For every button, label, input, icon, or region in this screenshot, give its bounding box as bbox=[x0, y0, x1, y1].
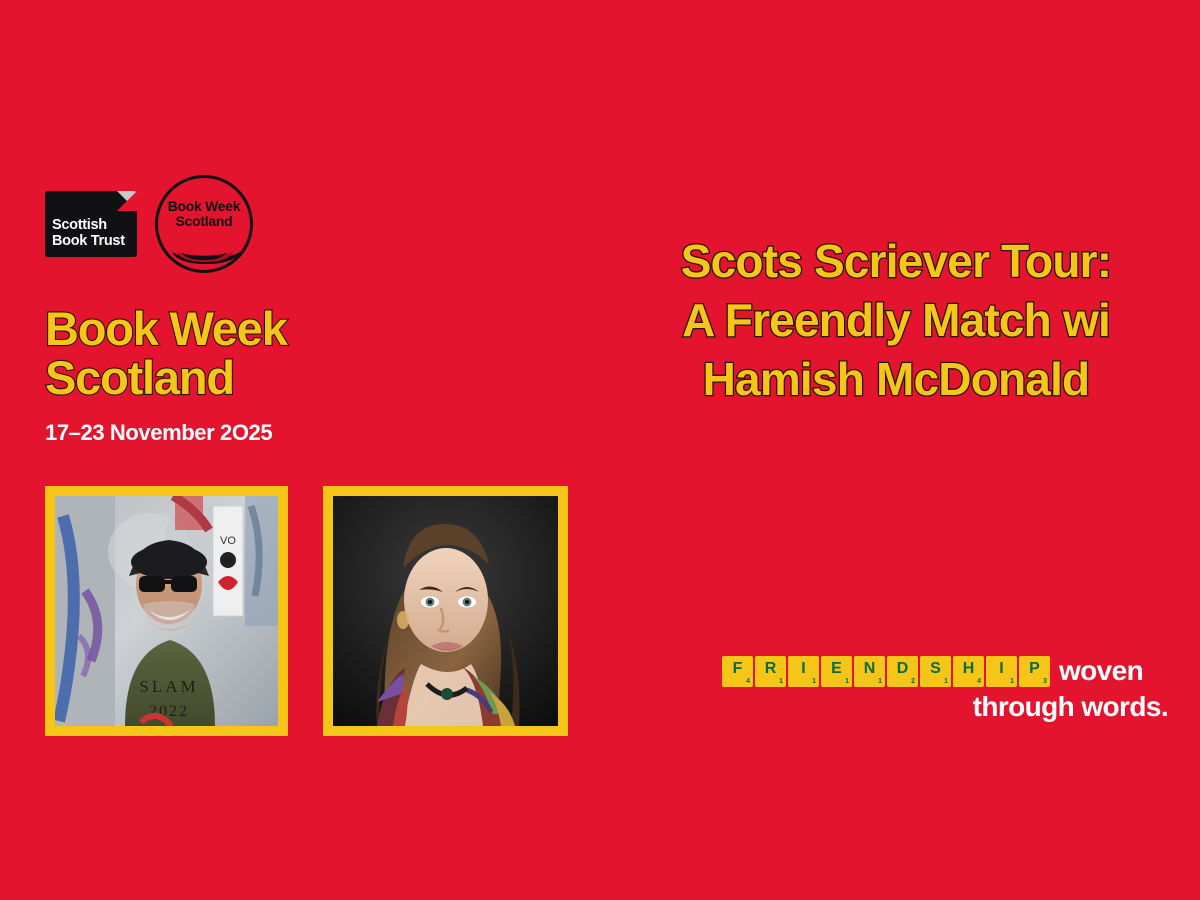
scottish-book-trust-logo-text: Scottish Book Trust bbox=[52, 217, 125, 249]
scrabble-tile-letter: H bbox=[953, 661, 984, 677]
smile-swoosh-inner-icon bbox=[182, 242, 226, 260]
author-photo-hamish-image: VO SLAM 2022 bbox=[55, 496, 278, 726]
scrabble-tile-s: S1 bbox=[920, 656, 951, 687]
scrabble-tile-f: F4 bbox=[722, 656, 753, 687]
scrabble-tile-points: 1 bbox=[812, 678, 816, 685]
event-title-line-3: Hamish McDonald bbox=[610, 350, 1182, 409]
scrabble-tile-points: 2 bbox=[911, 678, 915, 685]
sbt-logo-line-2: Book Trust bbox=[52, 233, 125, 249]
svg-text:VO: VO bbox=[220, 535, 236, 547]
scrabble-tile-d: D2 bbox=[887, 656, 918, 687]
bws-badge-line-2: Scotland bbox=[158, 214, 250, 229]
scrabble-tile-h: H4 bbox=[953, 656, 984, 687]
festival-heading: Book Week Scotland bbox=[45, 305, 287, 403]
page-fold-shadow-icon bbox=[117, 191, 137, 211]
author-photo-hamish: VO SLAM 2022 bbox=[45, 486, 288, 736]
festival-dates: 17–23 November 2O25 bbox=[45, 420, 272, 446]
sbt-logo-line-1: Scottish bbox=[52, 217, 125, 233]
scrabble-tile-letter: I bbox=[986, 661, 1017, 677]
scrabble-tile-points: 1 bbox=[779, 678, 783, 685]
scottish-book-trust-logo: Scottish Book Trust bbox=[45, 191, 137, 257]
event-title-line-2: A Freendly Match wi bbox=[610, 291, 1182, 350]
scrabble-tile-points: 4 bbox=[746, 678, 750, 685]
friendship-scrabble-tiles: F4R1I1E1N1D2S1H4I1P3 bbox=[722, 656, 1050, 687]
svg-text:SLAM: SLAM bbox=[139, 677, 198, 696]
event-title-line-1: Scots Scriever Tour: bbox=[610, 232, 1182, 291]
scrabble-tile-i: I1 bbox=[788, 656, 819, 687]
festival-heading-line-1: Book Week bbox=[45, 305, 287, 354]
poster-canvas: Scottish Book Trust Book Week Scotland B… bbox=[0, 0, 1200, 900]
book-week-scotland-badge: Book Week Scotland bbox=[155, 175, 253, 273]
tagline-row-2: through words. bbox=[722, 691, 1172, 723]
scrabble-tile-letter: P bbox=[1019, 661, 1050, 677]
event-title: Scots Scriever Tour: A Freendly Match wi… bbox=[610, 232, 1182, 409]
scrabble-tile-letter: E bbox=[821, 661, 852, 677]
tagline-word-woven: woven bbox=[1059, 655, 1143, 687]
tagline-block: F4R1I1E1N1D2S1H4I1P3 woven through words… bbox=[722, 655, 1172, 723]
scrabble-tile-letter: N bbox=[854, 661, 885, 677]
scrabble-tile-points: 1 bbox=[1010, 678, 1014, 685]
scrabble-tile-letter: S bbox=[920, 661, 951, 677]
scrabble-tile-letter: I bbox=[788, 661, 819, 677]
author-photo-woman bbox=[323, 486, 568, 736]
scrabble-tile-points: 1 bbox=[944, 678, 948, 685]
scrabble-tile-n: N1 bbox=[854, 656, 885, 687]
scrabble-tile-p: P3 bbox=[1019, 656, 1050, 687]
bws-badge-line-1: Book Week bbox=[158, 199, 250, 214]
logo-row: Scottish Book Trust Book Week Scotland bbox=[45, 175, 253, 273]
scrabble-tile-points: 1 bbox=[845, 678, 849, 685]
scrabble-tile-i: I1 bbox=[986, 656, 1017, 687]
author-photo-woman-image bbox=[333, 496, 558, 726]
festival-heading-line-2: Scotland bbox=[45, 354, 287, 403]
book-week-scotland-badge-text: Book Week Scotland bbox=[158, 199, 250, 230]
scrabble-tile-points: 1 bbox=[878, 678, 882, 685]
scrabble-tile-e: E1 bbox=[821, 656, 852, 687]
scrabble-tile-points: 3 bbox=[1043, 678, 1047, 685]
scrabble-tile-letter: R bbox=[755, 661, 786, 677]
scrabble-tile-points: 4 bbox=[977, 678, 981, 685]
tagline-row-1: F4R1I1E1N1D2S1H4I1P3 woven bbox=[722, 655, 1172, 687]
scrabble-tile-r: R1 bbox=[755, 656, 786, 687]
scrabble-tile-letter: F bbox=[722, 661, 753, 677]
scrabble-tile-letter: D bbox=[887, 661, 918, 677]
